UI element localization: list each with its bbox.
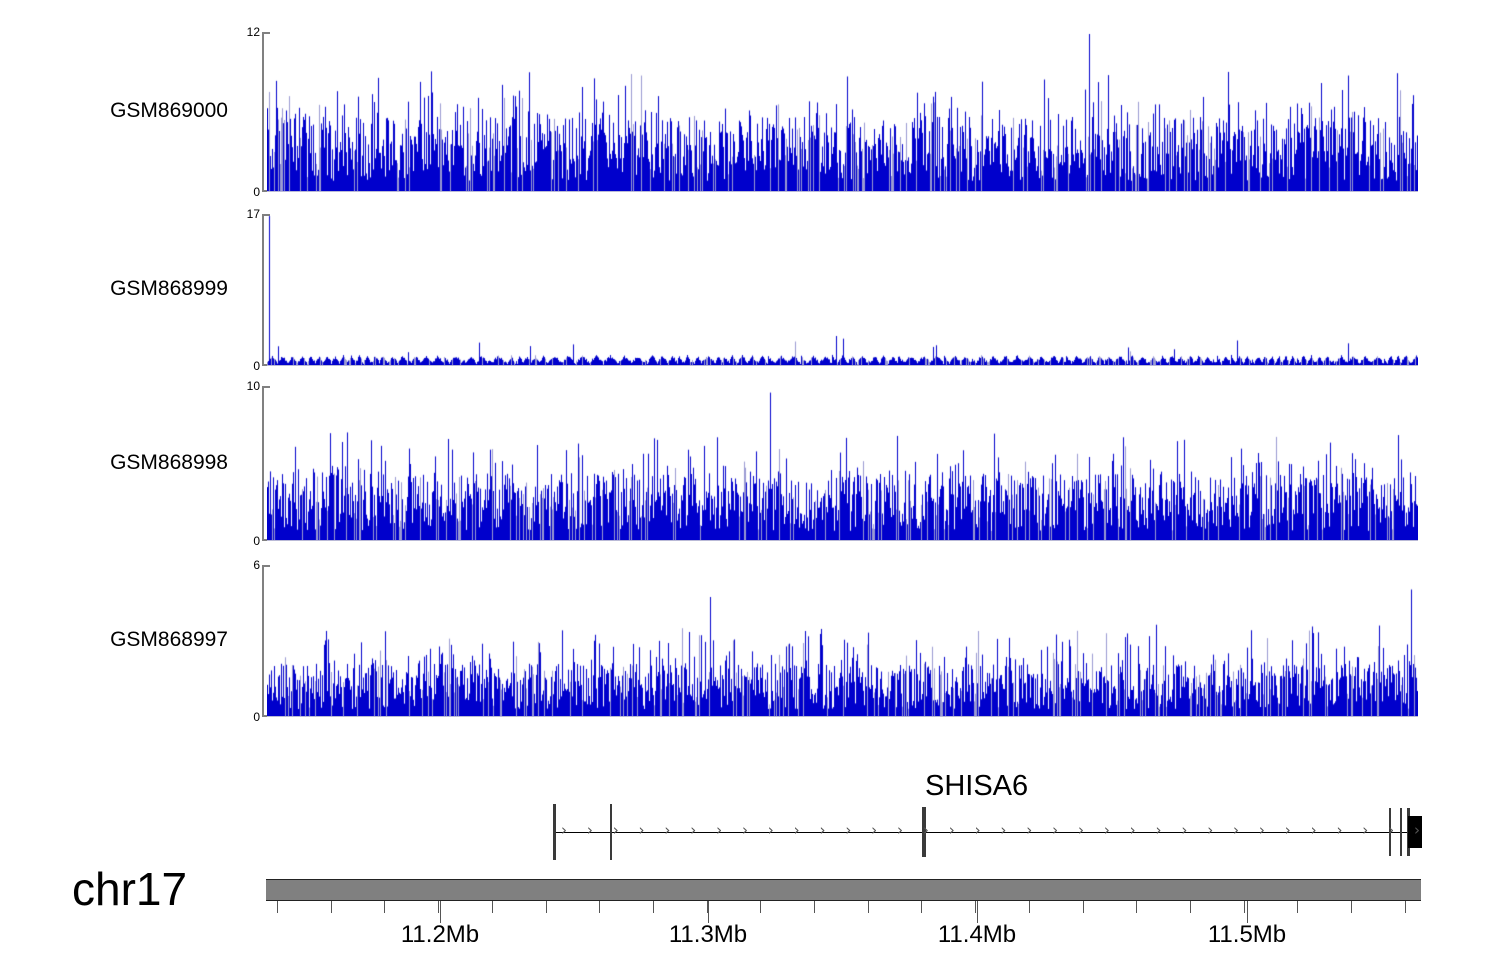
- strand-arrow-icon: ›: [1130, 823, 1136, 838]
- strand-arrow-icon: ›: [1207, 823, 1213, 838]
- strand-arrow-icon: ›: [639, 823, 645, 838]
- signal-track-gsm868999[interactable]: GSM868999170: [0, 214, 1500, 366]
- strand-arrow-icon: ›: [794, 823, 800, 838]
- axis-max-label: 17: [247, 208, 260, 220]
- ruler-tick-minor: [438, 901, 439, 913]
- strand-arrow-icon: ›: [1181, 823, 1187, 838]
- track-baseline: [267, 191, 1418, 192]
- ruler-tick-major: [440, 901, 441, 923]
- strand-arrow-icon: ›: [975, 823, 981, 838]
- ruler-tick-minor: [599, 901, 600, 913]
- strand-arrow-icon: ›: [1052, 823, 1058, 838]
- exon-tick: [1400, 808, 1402, 856]
- ruler-tick-minor: [975, 901, 976, 913]
- signal-plot-area[interactable]: [267, 386, 1418, 541]
- ruler-tick-label: 11.2Mb: [401, 923, 479, 947]
- ruler-tick-minor: [1136, 901, 1137, 913]
- axis-min-label: 0: [253, 711, 260, 723]
- signal-histogram-canvas: [267, 565, 1418, 717]
- signal-track-gsm868997[interactable]: GSM86899760: [0, 565, 1500, 717]
- signal-plot-area[interactable]: [267, 214, 1418, 366]
- signal-track-gsm868998[interactable]: GSM868998100: [0, 386, 1500, 541]
- ruler-tick-minor: [1244, 901, 1245, 913]
- ruler-tick-minor: [1297, 901, 1298, 913]
- chromosome-label: chr17: [72, 866, 187, 912]
- ruler-tick-minor: [384, 901, 385, 913]
- ruler-tick-minor: [760, 901, 761, 913]
- strand-arrow-icon: ›: [1388, 823, 1394, 838]
- strand-arrow-icon: ›: [1000, 823, 1006, 838]
- strand-arrow-icon: ›: [716, 823, 722, 838]
- axis-max-label: 6: [253, 559, 260, 571]
- ruler-tick-minor: [331, 901, 332, 913]
- axis-min-label: 0: [253, 186, 260, 198]
- track-label-gsm868998: GSM868998: [110, 452, 228, 473]
- strand-arrow-icon: ›: [897, 823, 903, 838]
- signal-track-gsm869000[interactable]: GSM869000120: [0, 32, 1500, 192]
- gene-label-shisa6: SHISA6: [925, 772, 1028, 801]
- signal-plot-area[interactable]: [267, 32, 1418, 192]
- signal-histogram-canvas: [267, 386, 1418, 541]
- ruler-tick-minor: [1351, 901, 1352, 913]
- track-label-gsm868997: GSM868997: [110, 629, 228, 650]
- strand-arrow-icon: ›: [1362, 823, 1368, 838]
- exon-tick: [553, 804, 556, 860]
- strand-arrow-icon: ›: [587, 823, 593, 838]
- exon-tick: [610, 804, 612, 860]
- ruler-tick-major: [977, 901, 978, 923]
- ruler-tick-minor: [868, 901, 869, 913]
- track-baseline: [267, 540, 1418, 541]
- signal-plot-area[interactable]: [267, 565, 1418, 717]
- genome-browser-view: GSM869000120GSM868999170GSM868998100GSM8…: [0, 0, 1500, 980]
- strand-arrow-icon: ›: [819, 823, 825, 838]
- strand-arrow-icon: ›: [690, 823, 696, 838]
- ruler-tick-minor: [492, 901, 493, 913]
- axis-max-label: 12: [247, 26, 260, 38]
- strand-arrow-icon: ›: [1026, 823, 1032, 838]
- strand-arrow-icon: ›: [664, 823, 670, 838]
- strand-arrow-icon: ›: [1156, 823, 1162, 838]
- strand-arrow-icon: ›: [1311, 823, 1317, 838]
- strand-arrow-icon: ›: [561, 823, 567, 838]
- strand-arrow-icon: ›: [1104, 823, 1110, 838]
- ruler-tick-minor: [653, 901, 654, 913]
- axis-min-label: 0: [253, 535, 260, 547]
- ruler-tick-minor: [814, 901, 815, 913]
- ideogram-bar[interactable]: [266, 879, 1421, 901]
- signal-histogram-canvas: [267, 214, 1418, 366]
- ruler-tick-minor: [1029, 901, 1030, 913]
- strand-arrow-icon: ›: [613, 823, 619, 838]
- ruler-tick-minor: [277, 901, 278, 913]
- strand-arrow-icon: ›: [1336, 823, 1342, 838]
- track-baseline: [267, 365, 1418, 366]
- ruler-tick-minor: [1190, 901, 1191, 913]
- track-baseline: [267, 716, 1418, 717]
- ruler-tick-label: 11.3Mb: [669, 923, 747, 947]
- strand-arrow-icon: ›: [768, 823, 774, 838]
- strand-arrow-icon: ›: [1259, 823, 1265, 838]
- strand-arrow-icon: ›: [845, 823, 851, 838]
- strand-arrow-icon: ›: [923, 823, 929, 838]
- strand-arrow-icon: ›: [949, 823, 955, 838]
- axis-max-label: 10: [247, 380, 260, 392]
- strand-arrow-icon: ›: [1233, 823, 1239, 838]
- ruler-tick-minor: [1083, 901, 1084, 913]
- strand-arrow-icon: ›: [1078, 823, 1084, 838]
- track-label-gsm869000: GSM869000: [110, 100, 228, 121]
- signal-histogram-canvas: [267, 32, 1418, 192]
- track-label-gsm868999: GSM868999: [110, 278, 228, 299]
- ruler-tick-minor: [546, 901, 547, 913]
- strand-arrow-icon: ›: [1414, 823, 1420, 838]
- ruler-tick-major: [1247, 901, 1248, 923]
- ruler-tick-label: 11.5Mb: [1208, 923, 1286, 947]
- ruler-tick-minor: [921, 901, 922, 913]
- strand-arrow-icon: ›: [1285, 823, 1291, 838]
- ruler-tick-minor: [1405, 901, 1406, 913]
- strand-arrow-icon: ›: [871, 823, 877, 838]
- ruler-tick-label: 11.4Mb: [938, 923, 1016, 947]
- ruler-tick-major: [708, 901, 709, 923]
- axis-min-label: 0: [253, 360, 260, 372]
- strand-arrow-icon: ›: [742, 823, 748, 838]
